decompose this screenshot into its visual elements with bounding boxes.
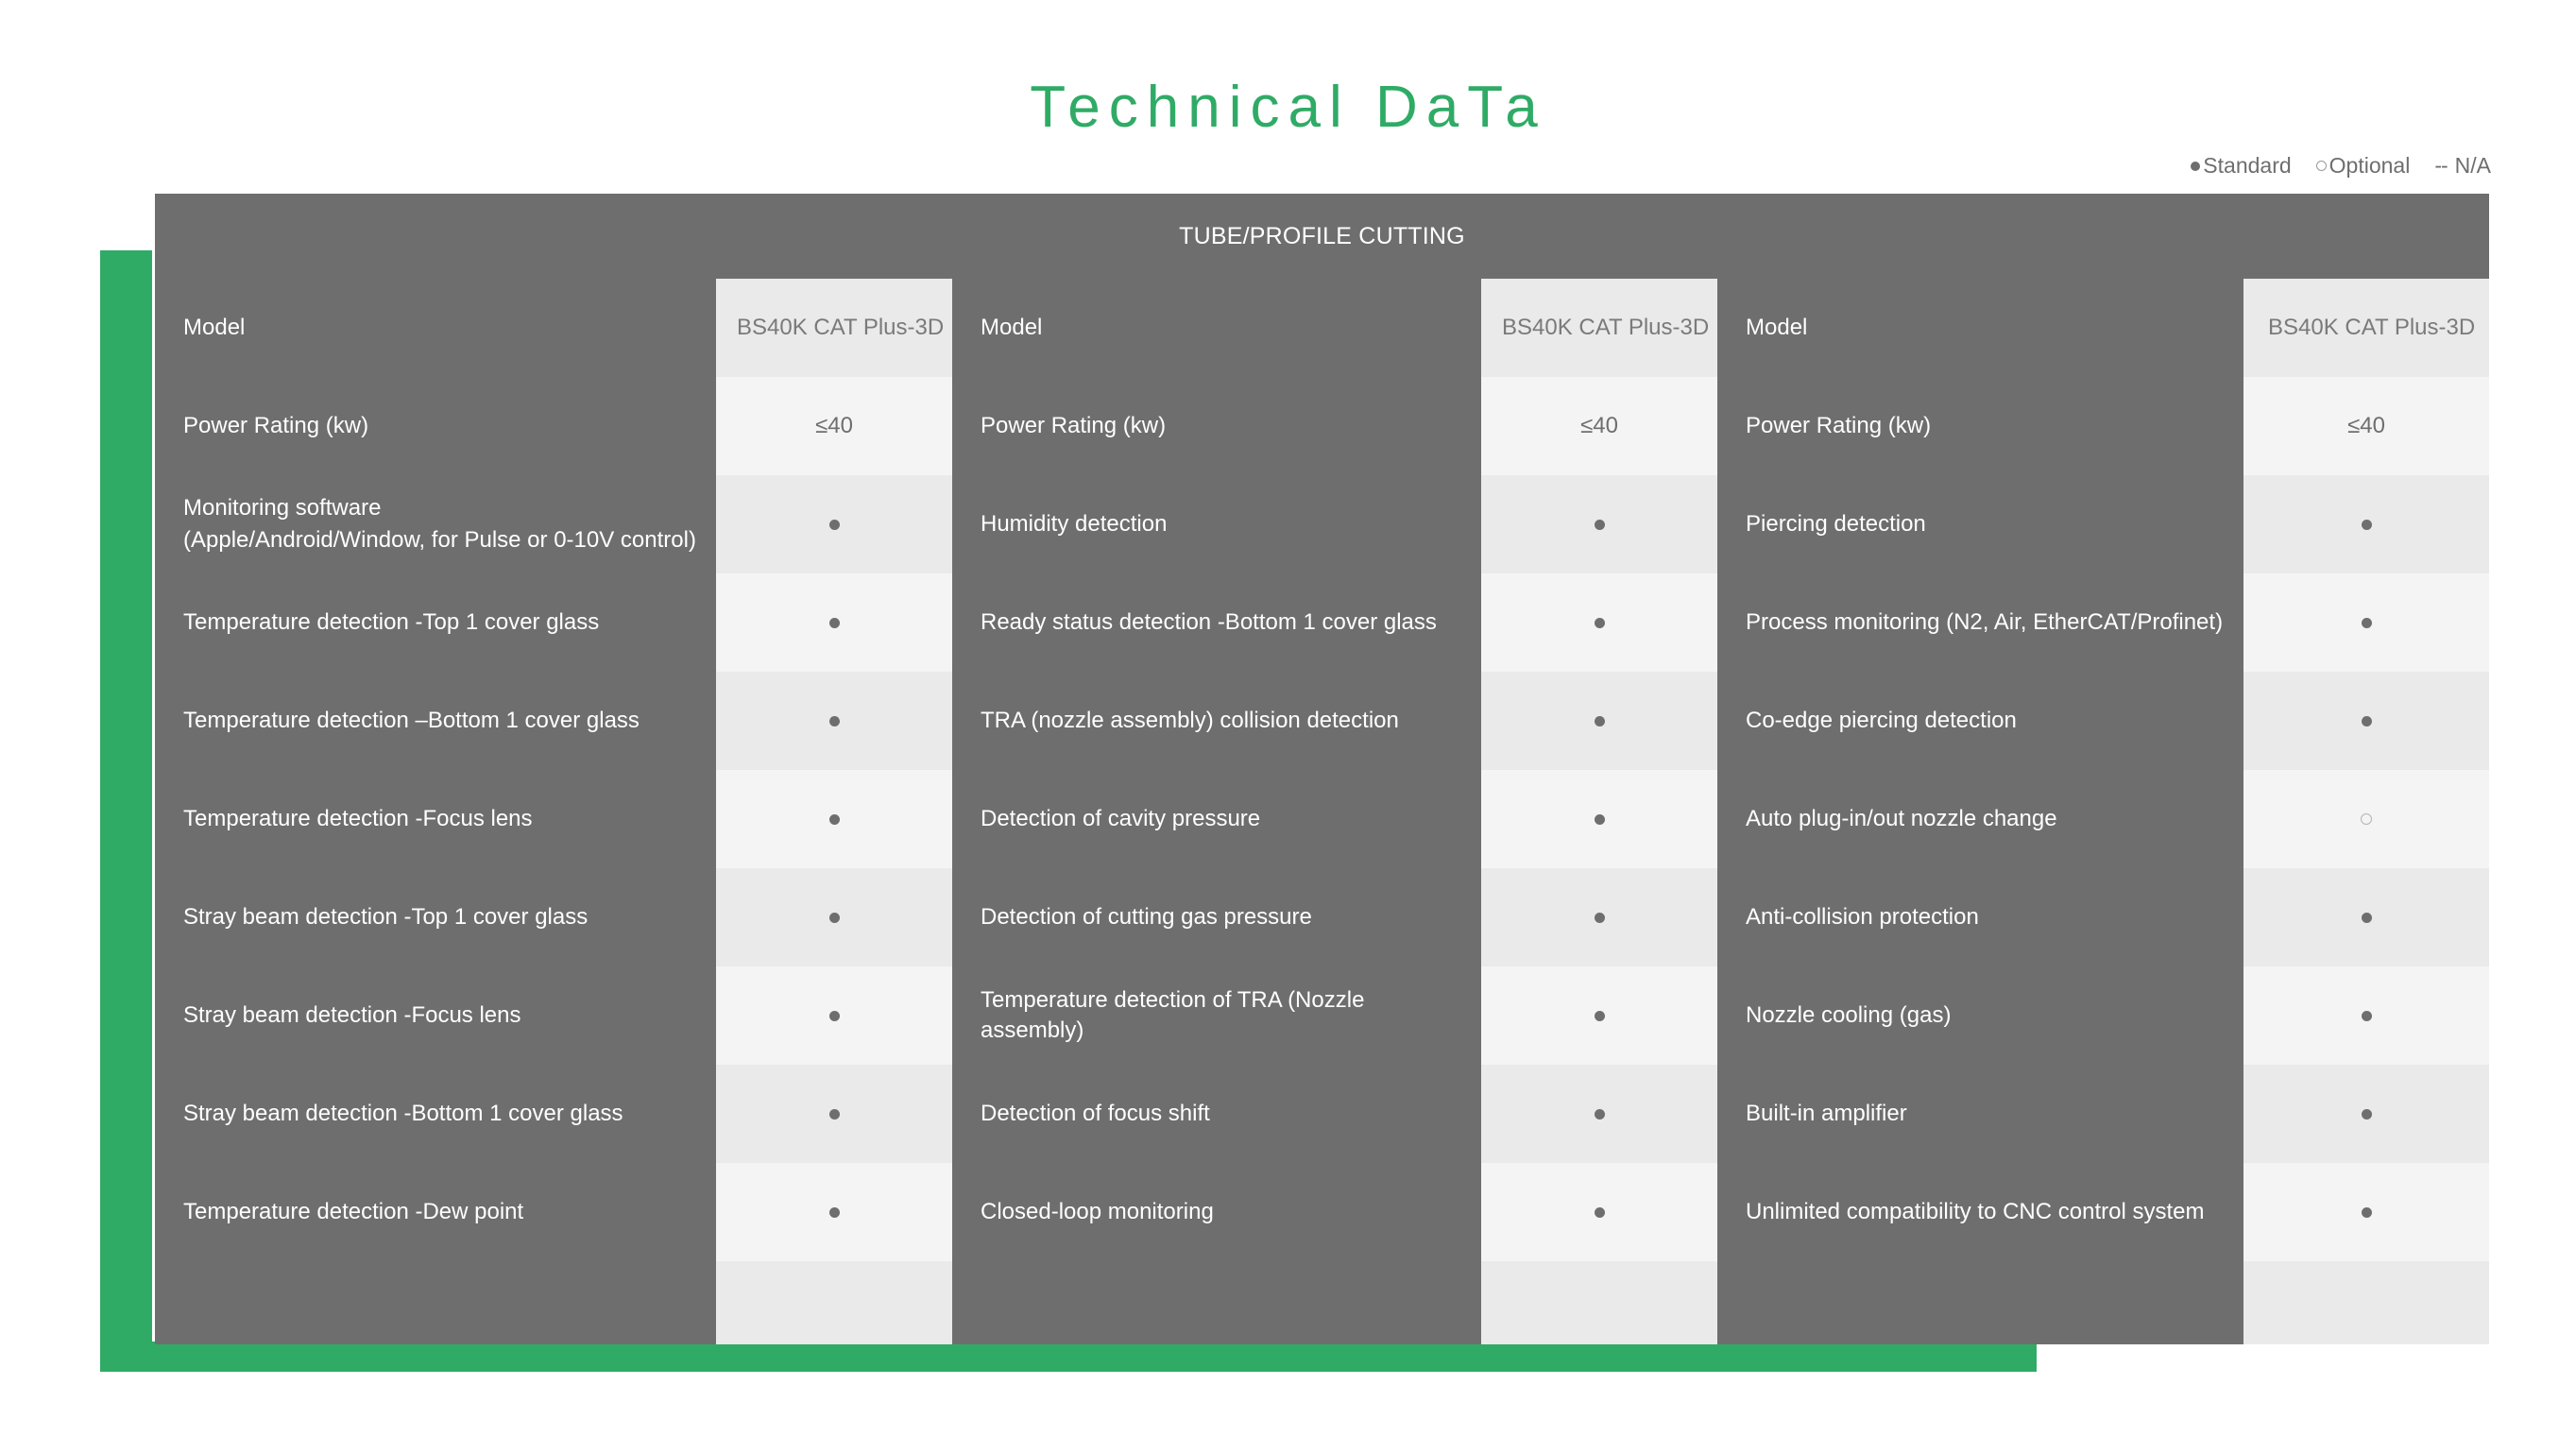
filled-circle-icon (1595, 814, 1605, 825)
spec-value-empty (1481, 1261, 1717, 1344)
spec-label: Process monitoring (N2, Air, EtherCAT/Pr… (1717, 573, 2243, 672)
spec-label: Humidity detection (952, 475, 1481, 573)
spec-value-text: ≤40 (716, 377, 952, 475)
spec-label: Built-in amplifier (1717, 1065, 2243, 1163)
spec-label-empty (1717, 1261, 2243, 1344)
spec-label: Detection of cutting gas pressure (952, 868, 1481, 966)
spec-value-standard (716, 475, 952, 573)
spec-value-standard (2243, 475, 2489, 573)
spec-label: Power Rating (kw) (155, 377, 716, 475)
table-block-2: ModelPower Rating (kw)Humidity detection… (952, 279, 1717, 1344)
spec-value-standard (716, 868, 952, 966)
filled-circle-icon (2362, 1109, 2372, 1120)
table-grid: ModelPower Rating (kw)Monitoring softwar… (155, 279, 2489, 1344)
filled-circle-icon (2362, 913, 2372, 923)
spec-value-standard (716, 966, 952, 1065)
legend-label-optional: Optional (2329, 153, 2411, 179)
filled-circle-icon (829, 716, 840, 726)
spec-value-standard (716, 1163, 952, 1261)
legend-item-optional: Optional (2316, 153, 2411, 179)
spec-label: Piercing detection (1717, 475, 2243, 573)
green-accent-bar-left (100, 250, 152, 1360)
spec-label: Power Rating (kw) (1717, 377, 2243, 475)
filled-circle-icon (2362, 1011, 2372, 1021)
value-column-2: BS40K CAT Plus-3D≤40 (1481, 279, 1717, 1344)
spec-label: TRA (nozzle assembly) collision detectio… (952, 672, 1481, 770)
filled-circle-icon (1595, 1207, 1605, 1218)
spec-label: Temperature detection –Bottom 1 cover gl… (155, 672, 716, 770)
column-header-label: Model (1717, 279, 2243, 377)
spec-value-standard (1481, 966, 1717, 1065)
open-circle-icon (2316, 161, 2327, 171)
spec-label: Temperature detection -Focus lens (155, 770, 716, 868)
spec-value-empty (716, 1261, 952, 1344)
column-header-model: BS40K CAT Plus-3D (2243, 279, 2489, 377)
spec-value-text: ≤40 (1481, 377, 1717, 475)
spec-value-text: ≤40 (2243, 377, 2489, 475)
dashes-icon: -- (2434, 153, 2447, 179)
spec-label: Unlimited compatibility to CNC control s… (1717, 1163, 2243, 1261)
spec-label: Stray beam detection -Bottom 1 cover gla… (155, 1065, 716, 1163)
spec-label: Co-edge piercing detection (1717, 672, 2243, 770)
filled-circle-icon (1595, 716, 1605, 726)
spec-label: Stray beam detection -Top 1 cover glass (155, 868, 716, 966)
spec-value-standard (1481, 573, 1717, 672)
legend-label-standard: Standard (2203, 153, 2291, 179)
filled-circle-icon (829, 1207, 840, 1218)
spec-value-standard (1481, 672, 1717, 770)
spec-value-standard (2243, 1065, 2489, 1163)
filled-circle-icon (829, 814, 840, 825)
page-title: Technical DaTa (0, 74, 2576, 141)
value-column-3: BS40K CAT Plus-3D≤40 (2243, 279, 2489, 1344)
spec-value-optional (2243, 770, 2489, 868)
spec-value-standard (2243, 1163, 2489, 1261)
spec-label: Auto plug-in/out nozzle change (1717, 770, 2243, 868)
spec-value-standard (716, 672, 952, 770)
spec-label: Power Rating (kw) (952, 377, 1481, 475)
spec-label: Temperature detection -Dew point (155, 1163, 716, 1261)
value-column-1: BS40K CAT Plus-3D≤40 (716, 279, 952, 1344)
spec-value-standard (716, 1065, 952, 1163)
label-column-3: ModelPower Rating (kw)Piercing detection… (1717, 279, 2243, 1344)
column-header-label: Model (155, 279, 716, 377)
filled-circle-icon (2362, 520, 2372, 530)
spec-label: Monitoring software(Apple/Android/Window… (155, 475, 716, 573)
filled-circle-icon (1595, 520, 1605, 530)
column-header-model: BS40K CAT Plus-3D (716, 279, 952, 377)
filled-circle-icon (2362, 618, 2372, 628)
spec-value-standard (1481, 1065, 1717, 1163)
filled-circle-icon (2362, 716, 2372, 726)
spec-label: Anti-collision protection (1717, 868, 2243, 966)
filled-circle-icon (2191, 162, 2200, 171)
filled-circle-icon (1595, 913, 1605, 923)
spec-label: Closed-loop monitoring (952, 1163, 1481, 1261)
spec-label: Ready status detection -Bottom 1 cover g… (952, 573, 1481, 672)
table-block-1: ModelPower Rating (kw)Monitoring softwar… (155, 279, 952, 1344)
filled-circle-icon (1595, 1011, 1605, 1021)
spec-value-standard (2243, 868, 2489, 966)
spec-label: Nozzle cooling (gas) (1717, 966, 2243, 1065)
spec-label: Detection of focus shift (952, 1065, 1481, 1163)
label-column-1: ModelPower Rating (kw)Monitoring softwar… (155, 279, 716, 1344)
spec-label: Temperature detection of TRA (Nozzle ass… (952, 966, 1481, 1065)
legend-label-na: N/A (2455, 153, 2491, 179)
open-circle-icon (2361, 813, 2372, 825)
green-accent-bar-bottom (100, 1342, 2037, 1372)
spec-label: Stray beam detection -Focus lens (155, 966, 716, 1065)
filled-circle-icon (829, 1011, 840, 1021)
spec-value-standard (1481, 770, 1717, 868)
filled-circle-icon (829, 618, 840, 628)
label-column-2: ModelPower Rating (kw)Humidity detection… (952, 279, 1481, 1344)
spec-value-standard (2243, 966, 2489, 1065)
spec-label: Detection of cavity pressure (952, 770, 1481, 868)
legend-item-standard: Standard (2191, 153, 2291, 179)
spec-label-empty (155, 1261, 716, 1344)
column-header-model: BS40K CAT Plus-3D (1481, 279, 1717, 377)
spec-value-standard (716, 573, 952, 672)
table-block-3: ModelPower Rating (kw)Piercing detection… (1717, 279, 2489, 1344)
spec-label: Temperature detection -Top 1 cover glass (155, 573, 716, 672)
filled-circle-icon (829, 1109, 840, 1120)
column-header-label: Model (952, 279, 1481, 377)
spec-value-standard (2243, 672, 2489, 770)
table-section-header: TUBE/PROFILE CUTTING (155, 194, 2489, 279)
legend: Standard Optional -- N/A (2191, 153, 2491, 179)
spec-label-empty (952, 1261, 1481, 1344)
spec-value-standard (716, 770, 952, 868)
spec-value-empty (2243, 1261, 2489, 1344)
spec-value-standard (1481, 1163, 1717, 1261)
filled-circle-icon (2362, 1207, 2372, 1218)
spec-value-standard (1481, 868, 1717, 966)
spec-value-standard (2243, 573, 2489, 672)
spec-label-text: Monitoring software(Apple/Android/Window… (183, 492, 696, 556)
filled-circle-icon (1595, 1109, 1605, 1120)
filled-circle-icon (829, 913, 840, 923)
spec-value-standard (1481, 475, 1717, 573)
spec-table: TUBE/PROFILE CUTTING ModelPower Rating (… (155, 194, 2489, 1344)
filled-circle-icon (829, 520, 840, 530)
legend-item-na: -- N/A (2434, 153, 2491, 179)
filled-circle-icon (1595, 618, 1605, 628)
